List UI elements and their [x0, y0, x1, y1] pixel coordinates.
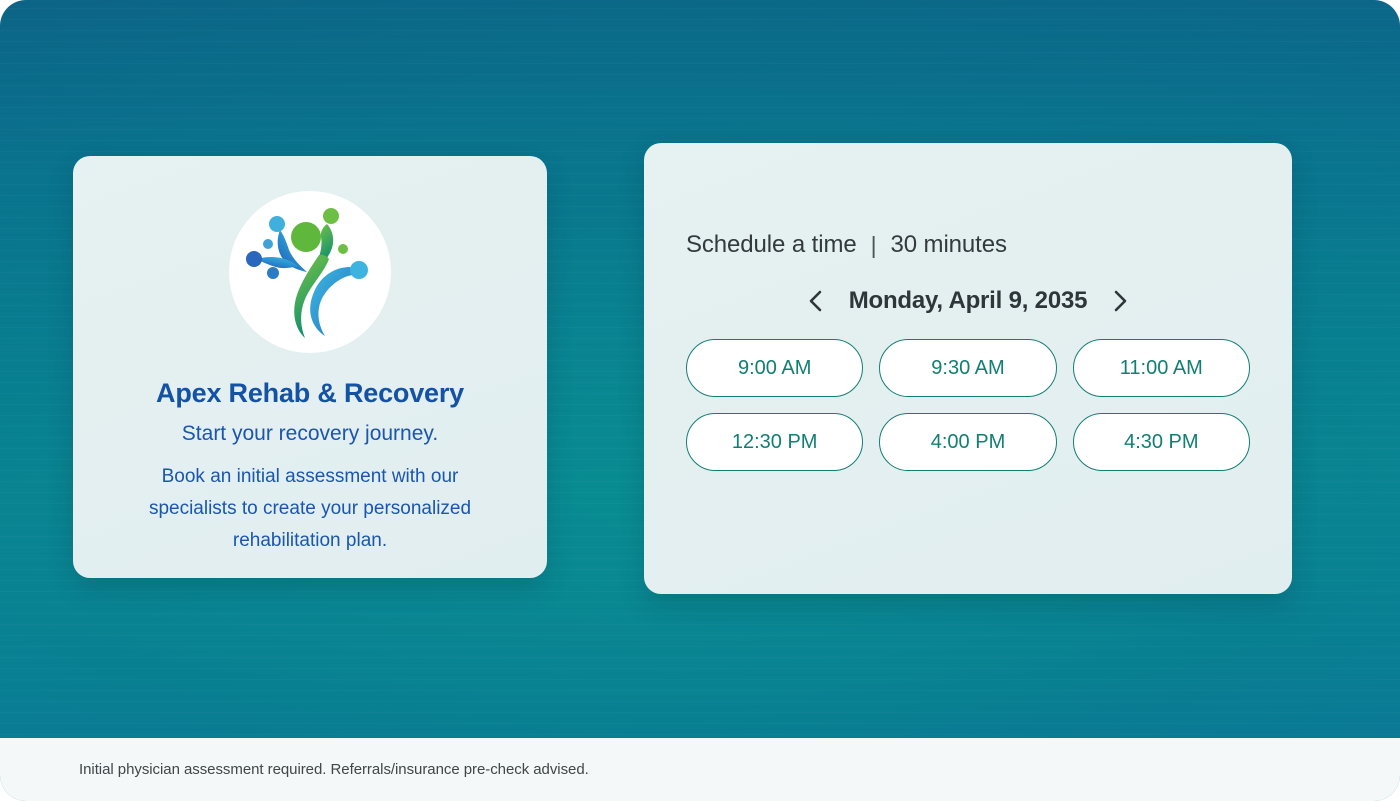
appointment-duration: 30 minutes: [890, 231, 1006, 259]
clinic-description: Book an initial assessment with our spec…: [125, 461, 495, 557]
time-slot-button[interactable]: 9:00 AM: [686, 339, 863, 397]
chevron-left-icon[interactable]: [803, 288, 829, 314]
date-navigator: Monday, April 9, 2035: [686, 287, 1250, 315]
clinic-tagline: Start your recovery journey.: [182, 422, 438, 446]
time-slot-button[interactable]: 4:30 PM: [1073, 413, 1250, 471]
clinic-info-card: Apex Rehab & Recovery Start your recover…: [73, 156, 547, 578]
time-slot-button[interactable]: 9:30 AM: [879, 339, 1056, 397]
time-slot-button[interactable]: 4:00 PM: [879, 413, 1056, 471]
time-slot-button[interactable]: 11:00 AM: [1073, 339, 1250, 397]
header-separator: |: [871, 232, 877, 259]
time-slot-grid: 9:00 AM 9:30 AM 11:00 AM 12:30 PM 4:00 P…: [686, 339, 1250, 471]
app-screen: Apex Rehab & Recovery Start your recover…: [0, 0, 1400, 801]
chevron-right-icon[interactable]: [1107, 288, 1133, 314]
time-slot-button[interactable]: 12:30 PM: [686, 413, 863, 471]
scheduler-header: Schedule a time | 30 minutes: [686, 231, 1250, 259]
scheduler-card: Schedule a time | 30 minutes Monday, Apr…: [644, 143, 1292, 594]
page-title: Apex Rehab & Recovery: [156, 379, 464, 409]
clinic-logo-icon: [229, 191, 391, 353]
selected-date-label: Monday, April 9, 2035: [849, 287, 1088, 315]
footer-note: Initial physician assessment required. R…: [79, 761, 589, 778]
footer-bar: Initial physician assessment required. R…: [0, 738, 1400, 801]
scheduler-title: Schedule a time: [686, 231, 857, 259]
